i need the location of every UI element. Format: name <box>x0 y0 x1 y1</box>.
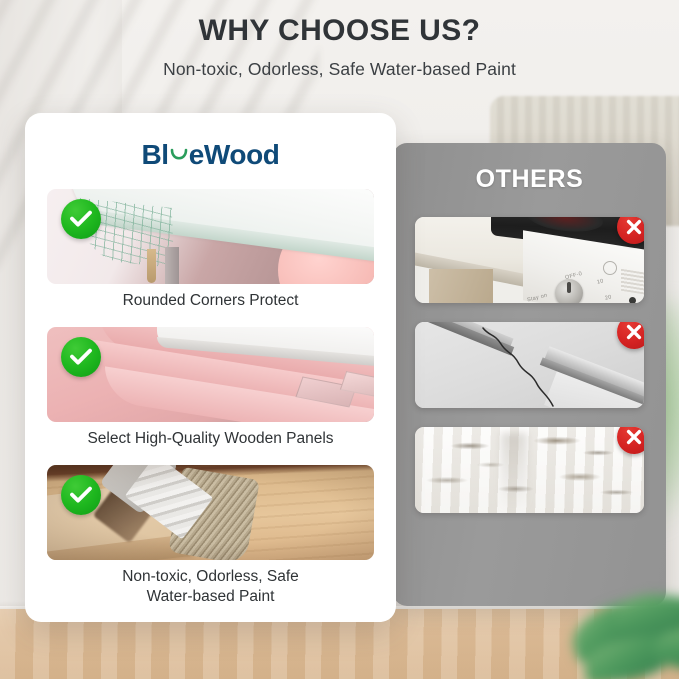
feature-caption-line-2: Water-based Paint <box>39 587 382 607</box>
others-panel-title: OTHERS <box>393 165 666 194</box>
logo-text-before: Bl <box>141 139 168 170</box>
header-block: WHY CHOOSE US? Non-toxic, Odorless, Safe… <box>0 14 679 80</box>
feature-caption-line-1: Non-toxic, Odorless, Safe <box>39 567 382 587</box>
check-circle-icon <box>61 199 101 239</box>
bluewood-item-wooden-panels: Select High-Quality Wooden Panels <box>25 327 396 449</box>
stove-dial <box>603 261 617 275</box>
check-circle-icon <box>61 337 101 377</box>
paint-brush-on-wood-photo <box>47 465 374 560</box>
page-subtitle: Non-toxic, Odorless, Safe Water-based Pa… <box>0 59 679 80</box>
stove-grille <box>621 269 644 295</box>
bluewood-feature-list: Rounded Corners Protect <box>25 189 396 607</box>
cracked-surface-photo <box>415 322 644 408</box>
bluewood-item-rounded-corners: Rounded Corners Protect <box>25 189 396 311</box>
bluewood-logo: BleWood <box>25 139 396 171</box>
logo-smile-u-icon <box>169 145 189 169</box>
others-item-sharp-corner: Stay on OFF-0 10 20 <box>415 217 644 303</box>
bluewood-card: BleWood <box>25 113 396 622</box>
foreground-plant <box>560 596 679 679</box>
product-infographic: WHY CHOOSE US? Non-toxic, Odorless, Safe… <box>0 0 679 679</box>
feature-caption: Select High-Quality Wooden Panels <box>25 429 396 449</box>
pink-wooden-panels-photo <box>47 327 374 422</box>
feature-caption: Non-toxic, Odorless, Safe Water-based Pa… <box>25 567 396 607</box>
peeling-paint-photo <box>415 427 644 513</box>
sharp-corner-stove-photo: Stay on OFF-0 10 20 <box>415 217 644 303</box>
others-item-peeling-paint <box>415 427 644 513</box>
feature-caption: Rounded Corners Protect <box>25 291 396 311</box>
stove-indicator-dot <box>629 297 636 303</box>
stove-knob <box>555 279 583 303</box>
bluewood-item-water-based-paint: Non-toxic, Odorless, Safe Water-based Pa… <box>25 465 396 607</box>
page-title: WHY CHOOSE US? <box>0 14 679 48</box>
logo-text-after: eWood <box>189 139 280 170</box>
crack-line <box>415 322 644 408</box>
others-panel: OTHERS Stay on OFF-0 10 20 <box>393 143 666 606</box>
others-item-cracked-surface <box>415 322 644 408</box>
others-photo-list: Stay on OFF-0 10 20 <box>415 217 644 513</box>
rounded-table-corner-photo <box>47 189 374 284</box>
check-circle-icon <box>61 475 101 515</box>
